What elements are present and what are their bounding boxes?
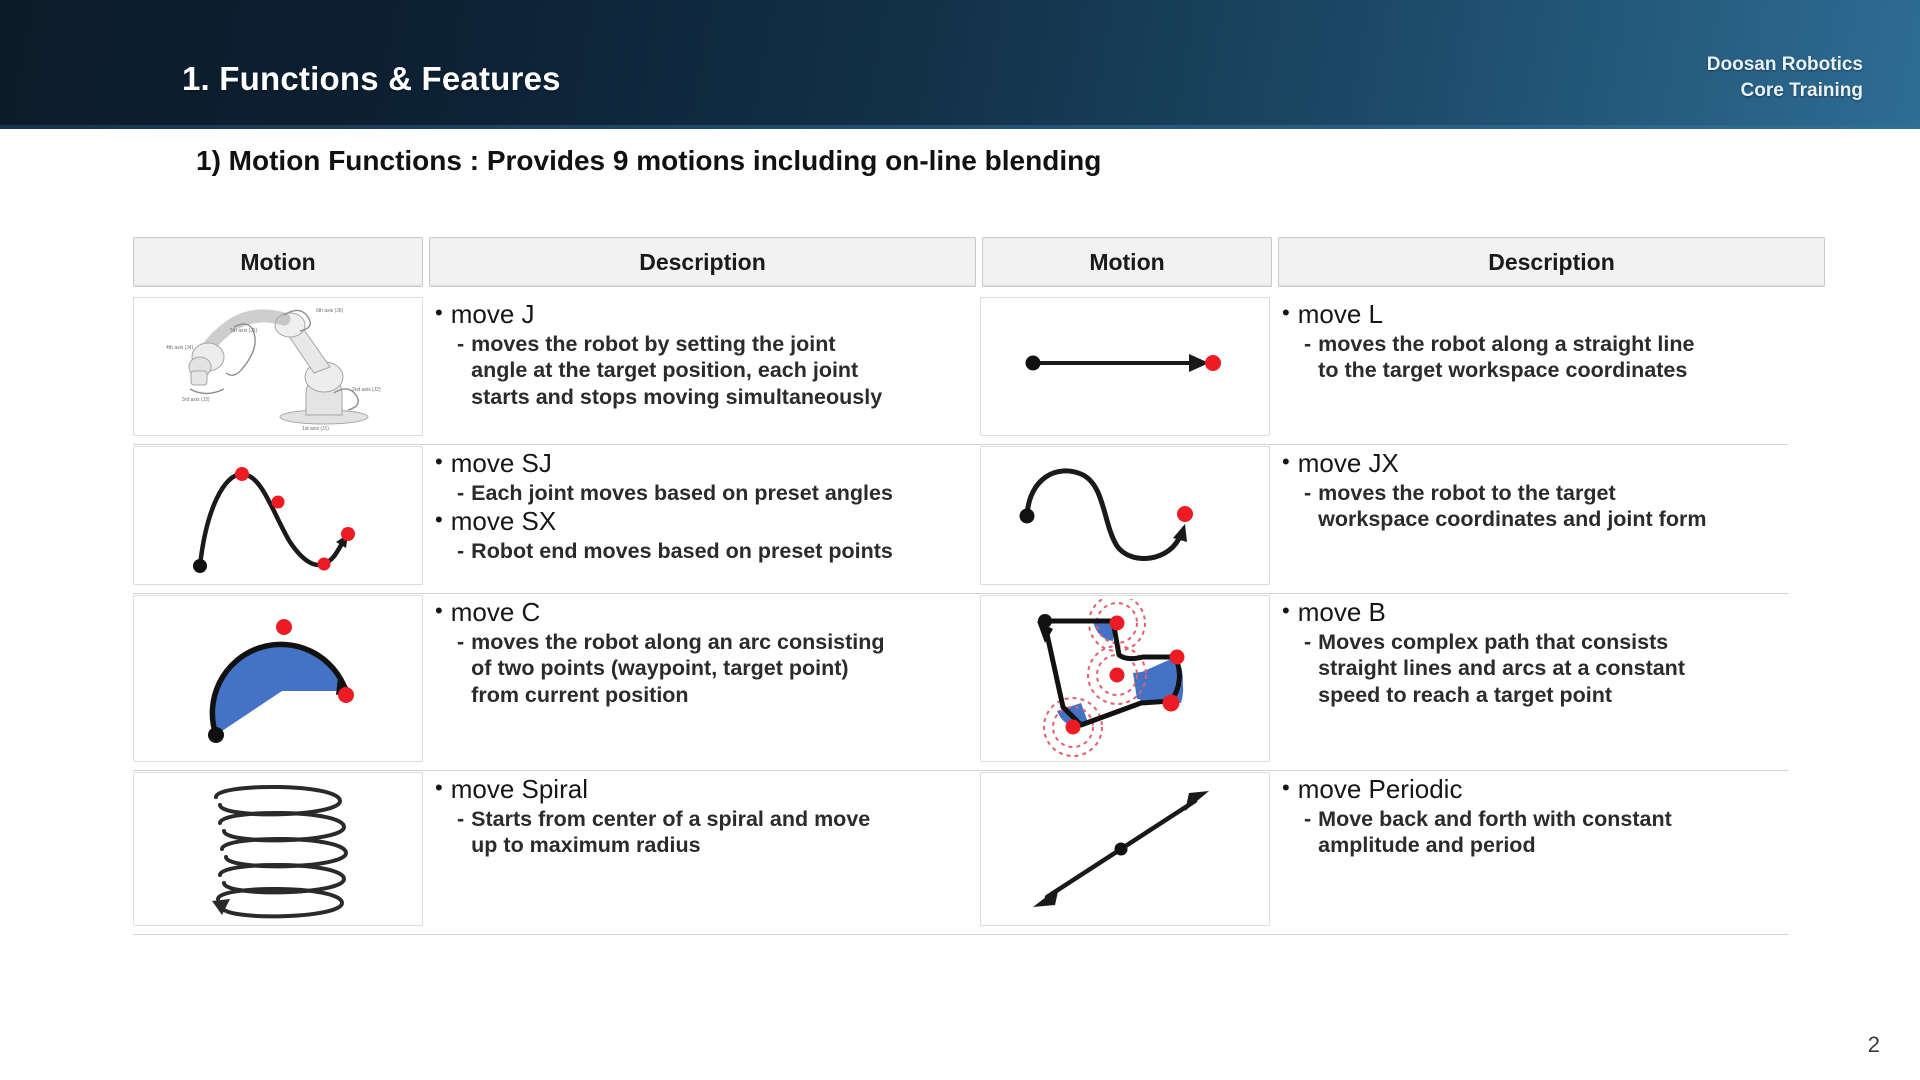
motion-name: • move Spiral (435, 774, 974, 805)
brand-line-2: Core Training (1707, 78, 1863, 104)
diagram-cell-move-spiral (133, 772, 423, 926)
description-cell-move-j: • move J - moves the robot by setting th… (429, 297, 974, 434)
motion-description: - Moves complex path that consists strai… (1282, 629, 1821, 709)
motion-name-text: move L (1298, 299, 1383, 330)
motion-name: • move J (435, 299, 974, 330)
svg-text:1st axis (J1): 1st axis (J1) (302, 426, 329, 432)
motion-name-text: move JX (1298, 448, 1399, 479)
robot-arm-joint-axes-icon: 6th axis (J6) 5th axis (J5) 4th axis (J4… (138, 301, 418, 433)
row-divider (133, 593, 1788, 594)
blended-path-arcs-icon (985, 599, 1265, 759)
diagram-cell-move-l (980, 297, 1270, 436)
motion-description: - Move back and forth with constant ampl… (1282, 806, 1821, 859)
table-row: 6th axis (J6) 5th axis (J5) 4th axis (J4… (133, 297, 1788, 436)
description-cell-move-l: • move L - moves the robot along a strai… (1276, 297, 1821, 434)
brand-line-1: Doosan Robotics (1707, 52, 1863, 78)
description-text: Moves complex path that consists straigh… (1318, 629, 1685, 709)
dash-marker: - (457, 538, 464, 565)
table-row: • move SJ - Each joint moves based on pr… (133, 446, 1788, 585)
description-text: moves the robot along an arc consisting … (471, 629, 884, 709)
circular-arc-sector-icon (138, 599, 418, 759)
column-header-motion-left: Motion (133, 237, 423, 287)
svg-text:2nd axis (J2): 2nd axis (J2) (352, 387, 381, 393)
motion-description: - moves the robot along an arc consistin… (435, 629, 974, 709)
dash-marker: - (1304, 331, 1311, 358)
dash-marker: - (457, 629, 464, 656)
motion-name: • move C (435, 597, 974, 628)
motion-name-text: move B (1298, 597, 1386, 628)
motion-name-text: move SJ (451, 448, 552, 479)
diagram-cell-move-j: 6th axis (J6) 5th axis (J5) 4th axis (J4… (133, 297, 423, 436)
spline-curve-waypoints-icon (138, 450, 418, 582)
motion-description-secondary: - Robot end moves based on preset points (435, 538, 974, 565)
description-text: Robot end moves based on preset points (471, 538, 893, 565)
motion-description: - moves the robot to the target workspac… (1282, 480, 1821, 533)
description-cell-move-spiral: • move Spiral - Starts from center of a … (429, 772, 974, 924)
table-row: • move C - moves the robot along an arc … (133, 595, 1788, 762)
motion-description: - moves the robot by setting the joint a… (435, 331, 974, 411)
dash-marker: - (1304, 806, 1311, 833)
column-header-description-left: Description (429, 237, 976, 287)
bullet-dot: • (1282, 448, 1290, 476)
svg-text:4th axis (J4): 4th axis (J4) (166, 345, 194, 351)
motion-description: - Each joint moves based on preset angle… (435, 480, 974, 507)
s-curve-arrow-icon (985, 450, 1265, 582)
column-header-motion-right: Motion (982, 237, 1272, 287)
motion-name: • move L (1282, 299, 1821, 330)
motion-name-text: move Periodic (1298, 774, 1463, 805)
column-header-description-right: Description (1278, 237, 1825, 287)
slide: 1. Functions & Features Doosan Robotics … (0, 0, 1920, 1080)
bullet-dot: • (435, 299, 443, 327)
motion-description: - Starts from center of a spiral and mov… (435, 806, 974, 859)
row-divider (133, 770, 1788, 771)
header-underline (0, 125, 1920, 129)
svg-text:6th axis (J6): 6th axis (J6) (316, 308, 344, 314)
bullet-dot: • (435, 448, 443, 476)
motion-description: - moves the robot along a straight line … (1282, 331, 1821, 384)
page-number: 2 (1868, 1032, 1880, 1058)
motion-name-text: move C (451, 597, 541, 628)
svg-text:5th axis (J5): 5th axis (J5) (230, 328, 258, 334)
description-cell-move-periodic: • move Periodic - Move back and forth wi… (1276, 772, 1821, 924)
section-subtitle: 1) Motion Functions : Provides 9 motions… (196, 145, 1101, 177)
brand-block: Doosan Robotics Core Training (1707, 52, 1863, 103)
bullet-dot: • (1282, 299, 1290, 327)
bullet-dot: • (1282, 597, 1290, 625)
motion-name: • move Periodic (1282, 774, 1821, 805)
dash-marker: - (457, 331, 464, 358)
description-cell-move-b: • move B - Moves complex path that consi… (1276, 595, 1821, 760)
double-arrow-diagonal-icon (985, 775, 1265, 923)
bullet-dot: • (435, 774, 443, 802)
motion-name-text: move SX (451, 506, 557, 537)
motion-table: Motion Description Motion Description (133, 237, 1788, 926)
row-divider (133, 444, 1788, 445)
description-text: moves the robot to the target workspace … (1318, 480, 1706, 533)
dash-marker: - (1304, 629, 1311, 656)
description-text: Move back and forth with constant amplit… (1318, 806, 1672, 859)
description-cell-move-jx: • move JX - moves the robot to the targe… (1276, 446, 1821, 583)
description-text: moves the robot by setting the joint ang… (471, 331, 882, 411)
bullet-dot: • (1282, 774, 1290, 802)
motion-name-text: move J (451, 299, 535, 330)
description-text: Each joint moves based on preset angles (471, 480, 893, 507)
bullet-dot: • (435, 506, 443, 534)
straight-line-arrow-icon (985, 301, 1265, 433)
diagram-cell-move-periodic (980, 772, 1270, 926)
description-cell-move-sj-sx: • move SJ - Each joint moves based on pr… (429, 446, 974, 583)
motion-name: • move SJ (435, 448, 974, 479)
motion-name-text: move Spiral (451, 774, 588, 805)
dash-marker: - (457, 480, 464, 507)
diagram-cell-move-b (980, 595, 1270, 762)
page-title: 1. Functions & Features (182, 60, 561, 98)
svg-text:3rd axis (J3): 3rd axis (J3) (182, 397, 210, 403)
dash-marker: - (1304, 480, 1311, 507)
table-header-row: Motion Description Motion Description (133, 237, 1788, 287)
description-text: Starts from center of a spiral and move … (471, 806, 870, 859)
dash-marker: - (457, 806, 464, 833)
bullet-dot: • (435, 597, 443, 625)
motion-name-secondary: • move SX (435, 506, 974, 537)
helical-spiral-icon (138, 775, 418, 923)
motion-name: • move B (1282, 597, 1821, 628)
diagram-cell-move-sj (133, 446, 423, 585)
diagram-cell-move-jx (980, 446, 1270, 585)
row-divider (133, 934, 1788, 935)
description-cell-move-c: • move C - moves the robot along an arc … (429, 595, 974, 760)
motion-name: • move JX (1282, 448, 1821, 479)
description-text: moves the robot along a straight line to… (1318, 331, 1694, 384)
table-row: • move Spiral - Starts from center of a … (133, 772, 1788, 926)
diagram-cell-move-c (133, 595, 423, 762)
